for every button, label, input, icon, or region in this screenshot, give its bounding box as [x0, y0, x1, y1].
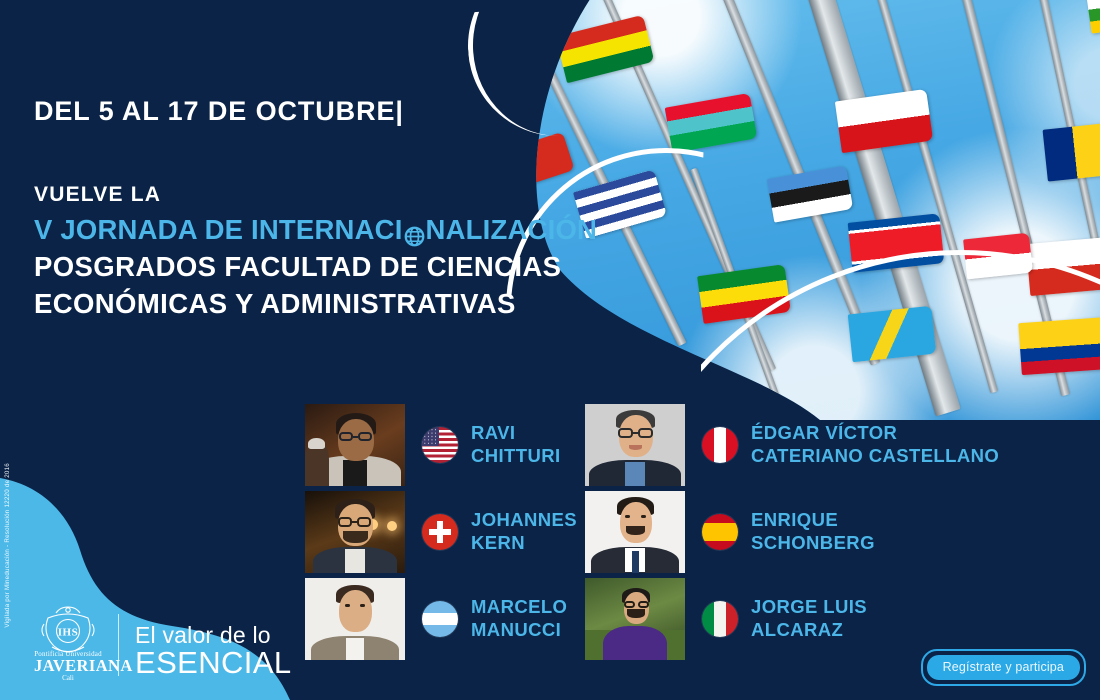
- speaker-name: ENRIQUE SCHONBERG: [751, 509, 875, 554]
- speaker-name-line1: JORGE LUIS: [751, 596, 867, 619]
- speaker-card[interactable]: ENRIQUE SCHONBERG: [585, 491, 999, 573]
- flag-icon-peru: [702, 427, 738, 463]
- headline-kicker: VUELVE LA: [34, 183, 594, 207]
- speaker-name-line2: ALCARAZ: [751, 619, 867, 642]
- speaker-name-line2: KERN: [471, 532, 577, 555]
- tagline-line-2: ESENCIAL: [135, 647, 292, 680]
- speaker-card[interactable]: RAVI CHITTURI: [305, 404, 577, 486]
- javeriana-crest-icon: IHS Pontificia Universidad JAVERIANA Cal…: [34, 604, 102, 682]
- poster-canvas: DEL 5 AL 17 DE OCTUBRE| VUELVE LA V JORN…: [0, 0, 1100, 700]
- speaker-photo: [305, 578, 405, 660]
- flag-chile: [1026, 236, 1100, 296]
- speaker-name: MARCELO MANUCCI: [471, 596, 567, 641]
- speaker-name: RAVI CHITTURI: [471, 422, 561, 467]
- flag-romania: [1043, 120, 1100, 181]
- event-title-pre: V JORNADA DE INTERNACI: [34, 214, 403, 246]
- speaker-name-line2: SCHONBERG: [751, 532, 875, 555]
- event-subtitle-line-1: POSGRADOS FACULTAD DE CIENCIAS: [34, 251, 594, 283]
- speaker-name-line1: RAVI: [471, 422, 561, 445]
- event-title-main: V JORNADA DE INTERNACI NALIZACIÓN: [34, 214, 594, 246]
- speaker-name-line2: CHITTURI: [471, 445, 561, 468]
- flag-colombia: [1018, 317, 1100, 375]
- event-subtitle-line-2: ECONÓMICAS Y ADMINISTRATIVAS: [34, 288, 594, 320]
- speaker-name-line1: ÉDGAR VÍCTOR: [751, 422, 999, 445]
- speaker-photo: [585, 578, 685, 660]
- legal-note: Vigilada por Mineducación - Resolución 1…: [4, 463, 11, 628]
- speaker-card[interactable]: ÉDGAR VÍCTOR CATERIANO CASTELLANO: [585, 404, 999, 486]
- speaker-photo: [305, 404, 405, 486]
- speaker-card[interactable]: JOHANNES KERN: [305, 491, 577, 573]
- speaker-photo: [585, 404, 685, 486]
- javeriana-brand-lockup: IHS Pontificia Universidad JAVERIANA Cal…: [34, 604, 292, 682]
- flag-icon-argentina: [422, 601, 458, 637]
- speaker-photo: [585, 491, 685, 573]
- crest-line-3: Cali: [34, 674, 102, 682]
- speakers-column-right: ÉDGAR VÍCTOR CATERIANO CASTELLANO: [585, 404, 999, 665]
- svg-text:IHS: IHS: [58, 627, 78, 639]
- brand-tagline: El valor de lo ESENCIAL: [135, 623, 292, 682]
- register-button[interactable]: Regístrate y participa: [927, 655, 1080, 680]
- speaker-photo: [305, 491, 405, 573]
- globe-icon: [404, 222, 425, 243]
- speakers-column-left: RAVI CHITTURI: [305, 404, 577, 665]
- flag-icon-switzerland: [422, 514, 458, 550]
- speaker-card[interactable]: MARCELO MANUCCI: [305, 578, 577, 660]
- crest-line-2: JAVERIANA: [34, 658, 102, 675]
- flag-icon-spain: [702, 514, 738, 550]
- hero-flags-photo: [520, 0, 1100, 420]
- speaker-name-line1: ENRIQUE: [751, 509, 875, 532]
- speaker-name: JOHANNES KERN: [471, 509, 577, 554]
- headline-block: DEL 5 AL 17 DE OCTUBRE| VUELVE LA V JORN…: [34, 96, 594, 320]
- flag-north-korea: [848, 213, 945, 272]
- speaker-card[interactable]: JORGE LUIS ALCARAZ: [585, 578, 999, 660]
- flag-singapore: [963, 233, 1033, 280]
- flag-icon-united-states: [422, 427, 458, 463]
- speaker-name-line2: CATERIANO CASTELLANO: [751, 445, 999, 468]
- cta-focus-ring: Regístrate y participa: [921, 649, 1086, 686]
- event-title-post: NALIZACIÓN: [426, 214, 598, 246]
- speaker-name-line1: MARCELO: [471, 596, 567, 619]
- speaker-name: JORGE LUIS ALCARAZ: [751, 596, 867, 641]
- event-dates: DEL 5 AL 17 DE OCTUBRE|: [34, 96, 594, 127]
- speaker-name-line1: JOHANNES: [471, 509, 577, 532]
- flag-dr-congo: [848, 306, 937, 363]
- speaker-name: ÉDGAR VÍCTOR CATERIANO CASTELLANO: [751, 422, 999, 467]
- tagline-line-1: El valor de lo: [135, 623, 292, 647]
- speaker-name-line2: MANUCCI: [471, 619, 567, 642]
- flag-icon-italy: [702, 601, 738, 637]
